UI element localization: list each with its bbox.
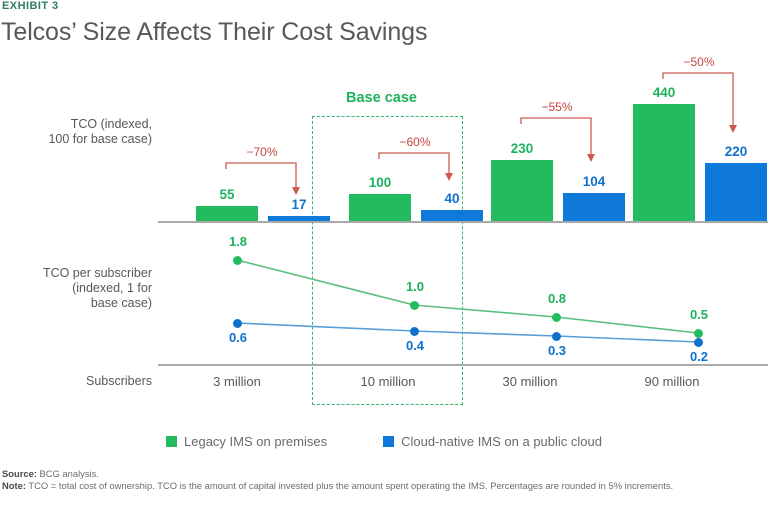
line-point-legacy-30-million[interactable] [552,313,561,322]
subscribers-axis-caption: Subscribers [0,374,152,389]
note-line: Note: TCO = total cost of ownership. TCO… [2,480,702,492]
note-text: TCO = total cost of ownership. TCO is th… [26,480,673,491]
tco-per-sub-line-1: TCO per subscriber [0,266,152,281]
legend-swatch-blue-icon [383,436,394,447]
note-label: Note: [2,480,26,491]
chart-legend: Legacy IMS on premises Cloud-native IMS … [0,434,768,449]
legend-item-legacy[interactable]: Legacy IMS on premises [166,434,327,449]
source-text: BCG analysis. [37,468,99,479]
tco-per-sub-line-3: base case) [0,296,152,311]
tco-caption-line-1: TCO (indexed, [0,117,152,132]
chart-plot-area: Base case 55 17 100 40 230 104 [158,0,768,410]
line-value-legacy-10-million: 1.0 [384,279,446,294]
tco-per-sub-line-2: (indexed, 1 for [0,281,152,296]
x-tick-3-million: 3 million [190,374,284,389]
source-label: Source: [2,468,37,479]
tco-axis-caption: TCO (indexed, 100 for base case) [0,117,152,147]
line-point-cloud-30-million[interactable] [552,332,561,341]
line-point-legacy-90-million[interactable] [694,329,703,338]
pct-arrow-10-million [371,147,461,193]
line-value-cloud-30-million: 0.3 [526,343,588,358]
pct-arrow-90-million [655,67,745,143]
line-point-cloud-3-million[interactable] [233,319,242,328]
line-series-legacy [237,260,698,333]
line-value-legacy-90-million: 0.5 [668,307,730,322]
line-value-cloud-90-million: 0.2 [668,349,730,364]
line-point-cloud-10-million[interactable] [410,327,419,336]
legend-item-cloud[interactable]: Cloud-native IMS on a public cloud [383,434,602,449]
line-value-legacy-3-million: 1.8 [207,234,269,249]
bar-value-cloud-90-million: 220 [705,144,767,159]
line-value-legacy-30-million: 0.8 [526,291,588,306]
source-line: Source: BCG analysis. [2,468,702,480]
bar-legacy-3-million[interactable] [196,206,258,221]
bar-legacy-10-million[interactable] [349,194,411,221]
legend-swatch-green-icon [166,436,177,447]
line-chart: 1.8 1.0 0.8 0.5 0.6 0.4 0.3 0.2 [158,228,768,365]
x-tick-30-million: 30 million [483,374,577,389]
bar-cloud-90-million[interactable] [705,163,767,221]
footnotes: Source: BCG analysis. Note: TCO = total … [2,468,702,493]
x-tick-90-million: 90 million [625,374,719,389]
exhibit-canvas: EXHIBIT 3 Telcos’ Size Affects Their Cos… [0,0,768,508]
line-value-cloud-3-million: 0.6 [207,330,269,345]
pct-arrow-30-million [513,112,603,172]
bar-value-cloud-30-million: 104 [563,174,625,189]
tco-per-subscriber-axis-caption: TCO per subscriber (indexed, 1 for base … [0,266,152,311]
exhibit-label: EXHIBIT 3 [2,0,59,12]
bar-cloud-3-million[interactable] [268,216,330,221]
pct-arrow-3-million [218,157,308,203]
line-point-legacy-10-million[interactable] [410,301,419,310]
legend-label-cloud: Cloud-native IMS on a public cloud [401,434,602,449]
legend-label-legacy: Legacy IMS on premises [184,434,327,449]
bar-value-cloud-10-million: 40 [421,191,483,206]
x-tick-10-million: 10 million [341,374,435,389]
tco-caption-line-2: 100 for base case) [0,132,152,147]
line-point-legacy-3-million[interactable] [233,256,242,265]
line-point-cloud-90-million[interactable] [694,338,703,347]
bar-chart-baseline [158,221,768,223]
bar-cloud-30-million[interactable] [563,193,625,221]
bar-cloud-10-million[interactable] [421,210,483,221]
line-value-cloud-10-million: 0.4 [384,338,446,353]
